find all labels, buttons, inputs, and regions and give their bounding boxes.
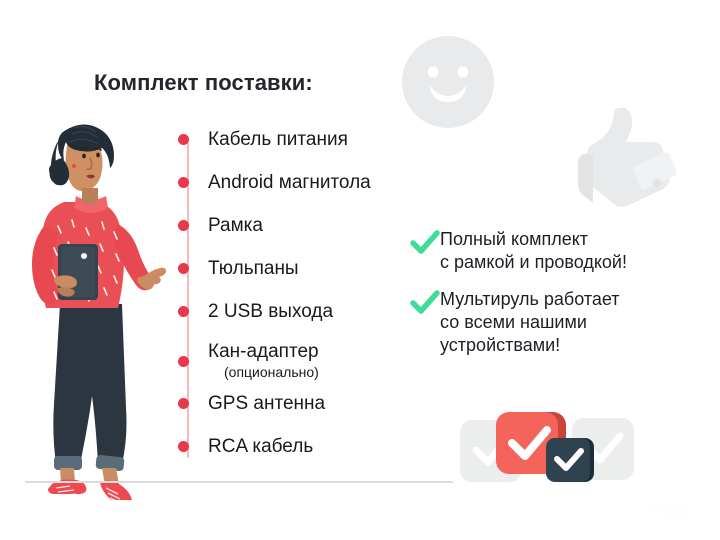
avito-watermark: Avito <box>622 500 708 526</box>
list-item: 2 USB выхода <box>178 300 333 323</box>
benefit-line: Мультируль работает <box>440 288 620 311</box>
benefit-line: устройствами! <box>440 334 620 357</box>
list-item: RCA кабель <box>178 435 313 458</box>
list-item: Тюльпаны <box>178 257 299 280</box>
page-title: Комплект поставки: <box>94 70 313 96</box>
bullet-dot-icon <box>178 356 189 367</box>
list-item: GPS антенна <box>178 392 325 415</box>
bullet-dot-icon <box>178 263 189 274</box>
benefit-item: Мультируль работает со всеми нашими устр… <box>410 288 690 357</box>
thumbs-up-icon <box>572 104 676 212</box>
list-item-label: 2 USB выхода <box>208 301 333 322</box>
list-item-label: Кабель питания <box>208 129 348 150</box>
green-check-icon <box>410 230 440 256</box>
list-item-label: GPS антенна <box>208 393 325 414</box>
benefits-list: Полный комплект с рамкой и проводкой! Му… <box>410 228 690 371</box>
green-check-icon <box>410 290 440 316</box>
list-item-label: Тюльпаны <box>208 258 299 279</box>
list-item-label: Кан-адаптер <box>208 341 319 362</box>
benefit-item: Полный комплект с рамкой и проводкой! <box>410 228 690 274</box>
list-item-label: Android магнитола <box>208 172 371 193</box>
avito-watermark-label: Avito <box>646 500 693 523</box>
smiley-face-icon <box>400 34 496 130</box>
benefit-line: с рамкой и проводкой! <box>440 251 627 274</box>
ground-line <box>25 481 453 483</box>
slide-canvas: Комплект поставки: Кабель питания Androi… <box>0 0 720 540</box>
bullet-dot-icon <box>178 220 189 231</box>
list-item-label: RCA кабель <box>208 436 313 457</box>
list-item-label: Рамка <box>208 215 263 236</box>
bullet-dot-icon <box>178 134 189 145</box>
list-item-sublabel: (опционально) <box>224 364 319 381</box>
benefit-line: Полный комплект <box>440 228 627 251</box>
bullet-dot-icon <box>178 441 189 452</box>
bullet-dot-icon <box>178 306 189 317</box>
checkbox-squares-icon <box>458 406 636 492</box>
person-illustration <box>14 108 174 500</box>
benefit-line: со всеми нашими <box>440 311 620 334</box>
bullet-dot-icon <box>178 398 189 409</box>
package-list: Кабель питания Android магнитола Рамка Т… <box>178 128 438 458</box>
list-item: Android магнитола <box>178 171 371 194</box>
list-item: Рамка <box>178 214 263 237</box>
list-item: Кан-адаптер (опционально) <box>178 340 319 381</box>
list-item: Кабель питания <box>178 128 348 151</box>
avito-dots-icon <box>624 503 646 525</box>
bullet-dot-icon <box>178 177 189 188</box>
